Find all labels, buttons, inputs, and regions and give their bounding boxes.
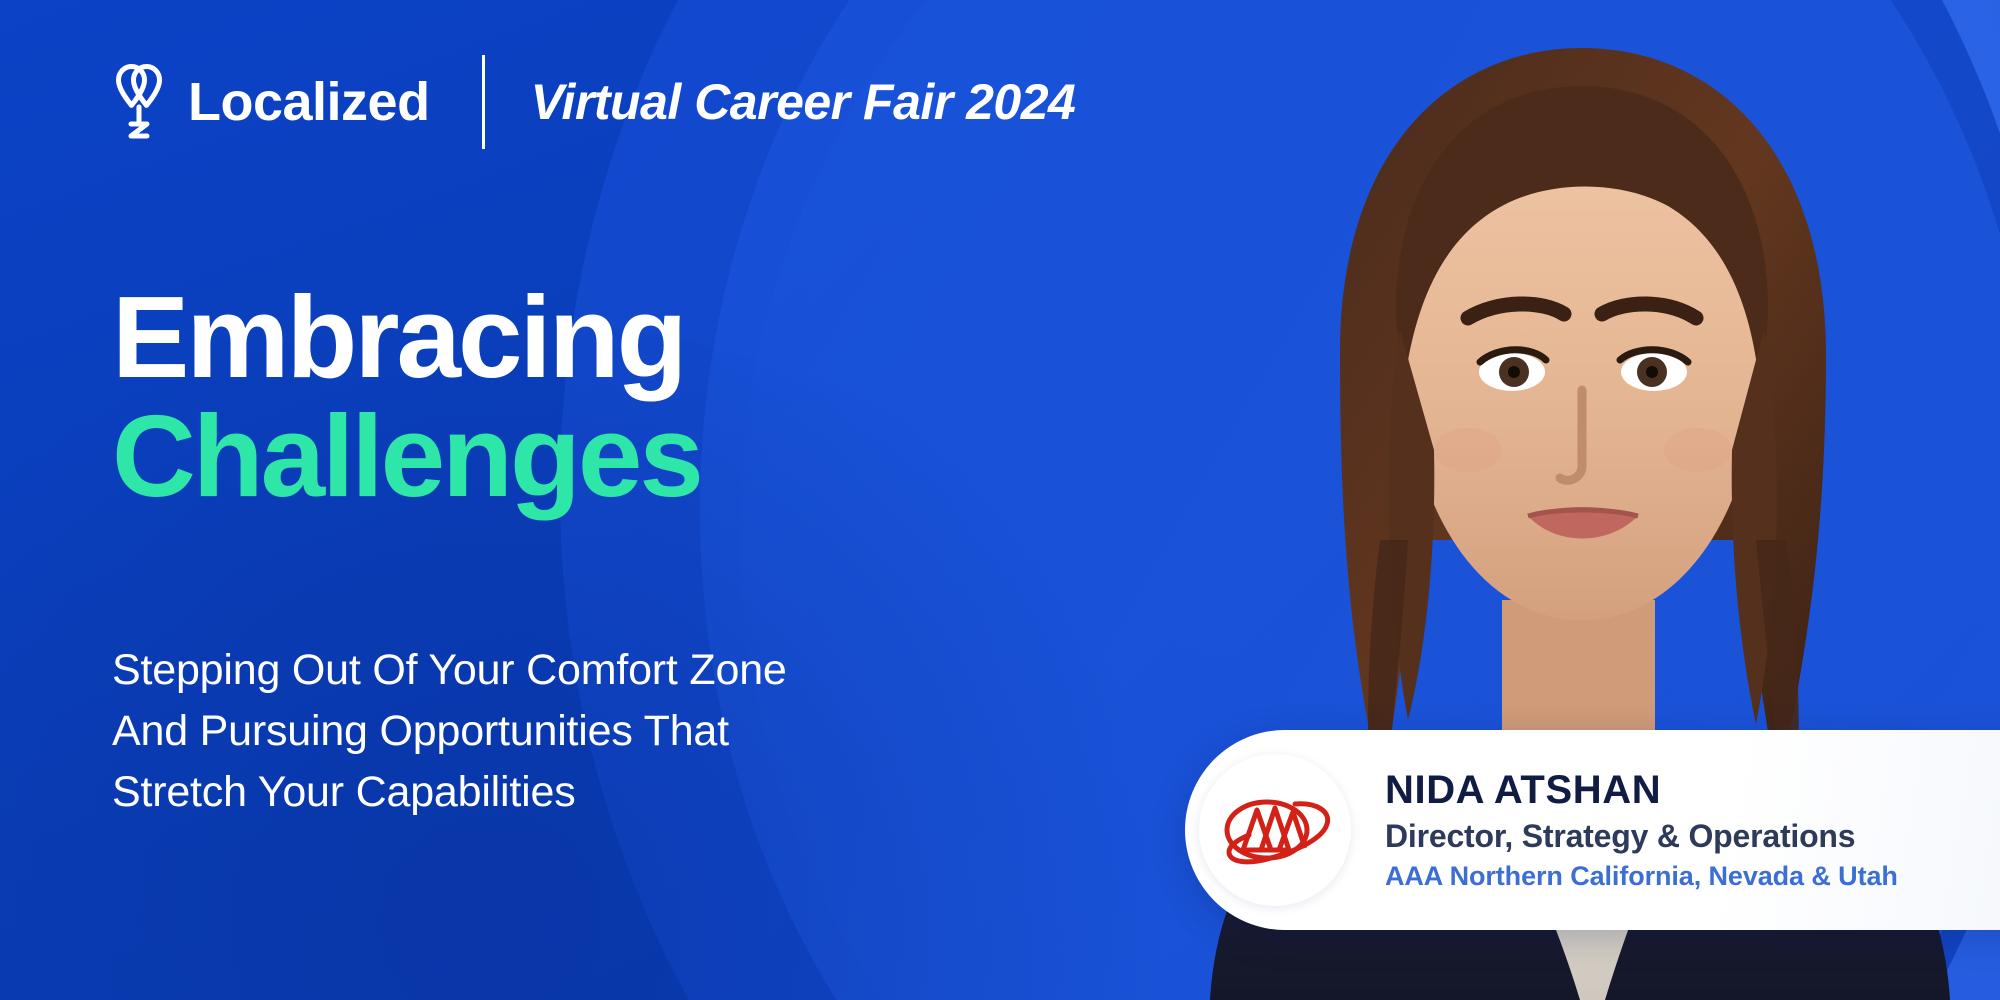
- header-divider: [482, 55, 485, 149]
- subtitle-line-2: And Pursuing Opportunities That: [112, 701, 787, 762]
- speaker-role: Director, Strategy & Operations: [1385, 818, 1898, 855]
- banner-header: Localized Virtual Career Fair 2024: [112, 54, 1075, 150]
- brand-lockup: Localized: [112, 61, 430, 143]
- subtitle-block: Stepping Out Of Your Comfort Zone And Pu…: [112, 640, 787, 823]
- localized-balloon-icon: [112, 61, 166, 143]
- aaa-logo-icon: [1199, 754, 1351, 906]
- event-title: Virtual Career Fair 2024: [531, 73, 1076, 131]
- career-fair-banner: Localized Virtual Career Fair 2024 Embra…: [0, 0, 2000, 1000]
- headline-block: Embracing Challenges: [112, 278, 701, 517]
- speaker-name: NIDA ATSHAN: [1385, 768, 1898, 812]
- brand-name: Localized: [188, 71, 430, 133]
- speaker-organization: AAA Northern California, Nevada & Utah: [1385, 861, 1898, 892]
- headline-line-2: Challenges: [112, 397, 701, 516]
- subtitle-line-3: Stretch Your Capabilities: [112, 762, 787, 823]
- speaker-text-block: NIDA ATSHAN Director, Strategy & Operati…: [1385, 768, 1898, 892]
- speaker-info-card: NIDA ATSHAN Director, Strategy & Operati…: [1185, 730, 2000, 930]
- subtitle-line-1: Stepping Out Of Your Comfort Zone: [112, 640, 787, 701]
- headline-line-1: Embracing: [112, 278, 701, 397]
